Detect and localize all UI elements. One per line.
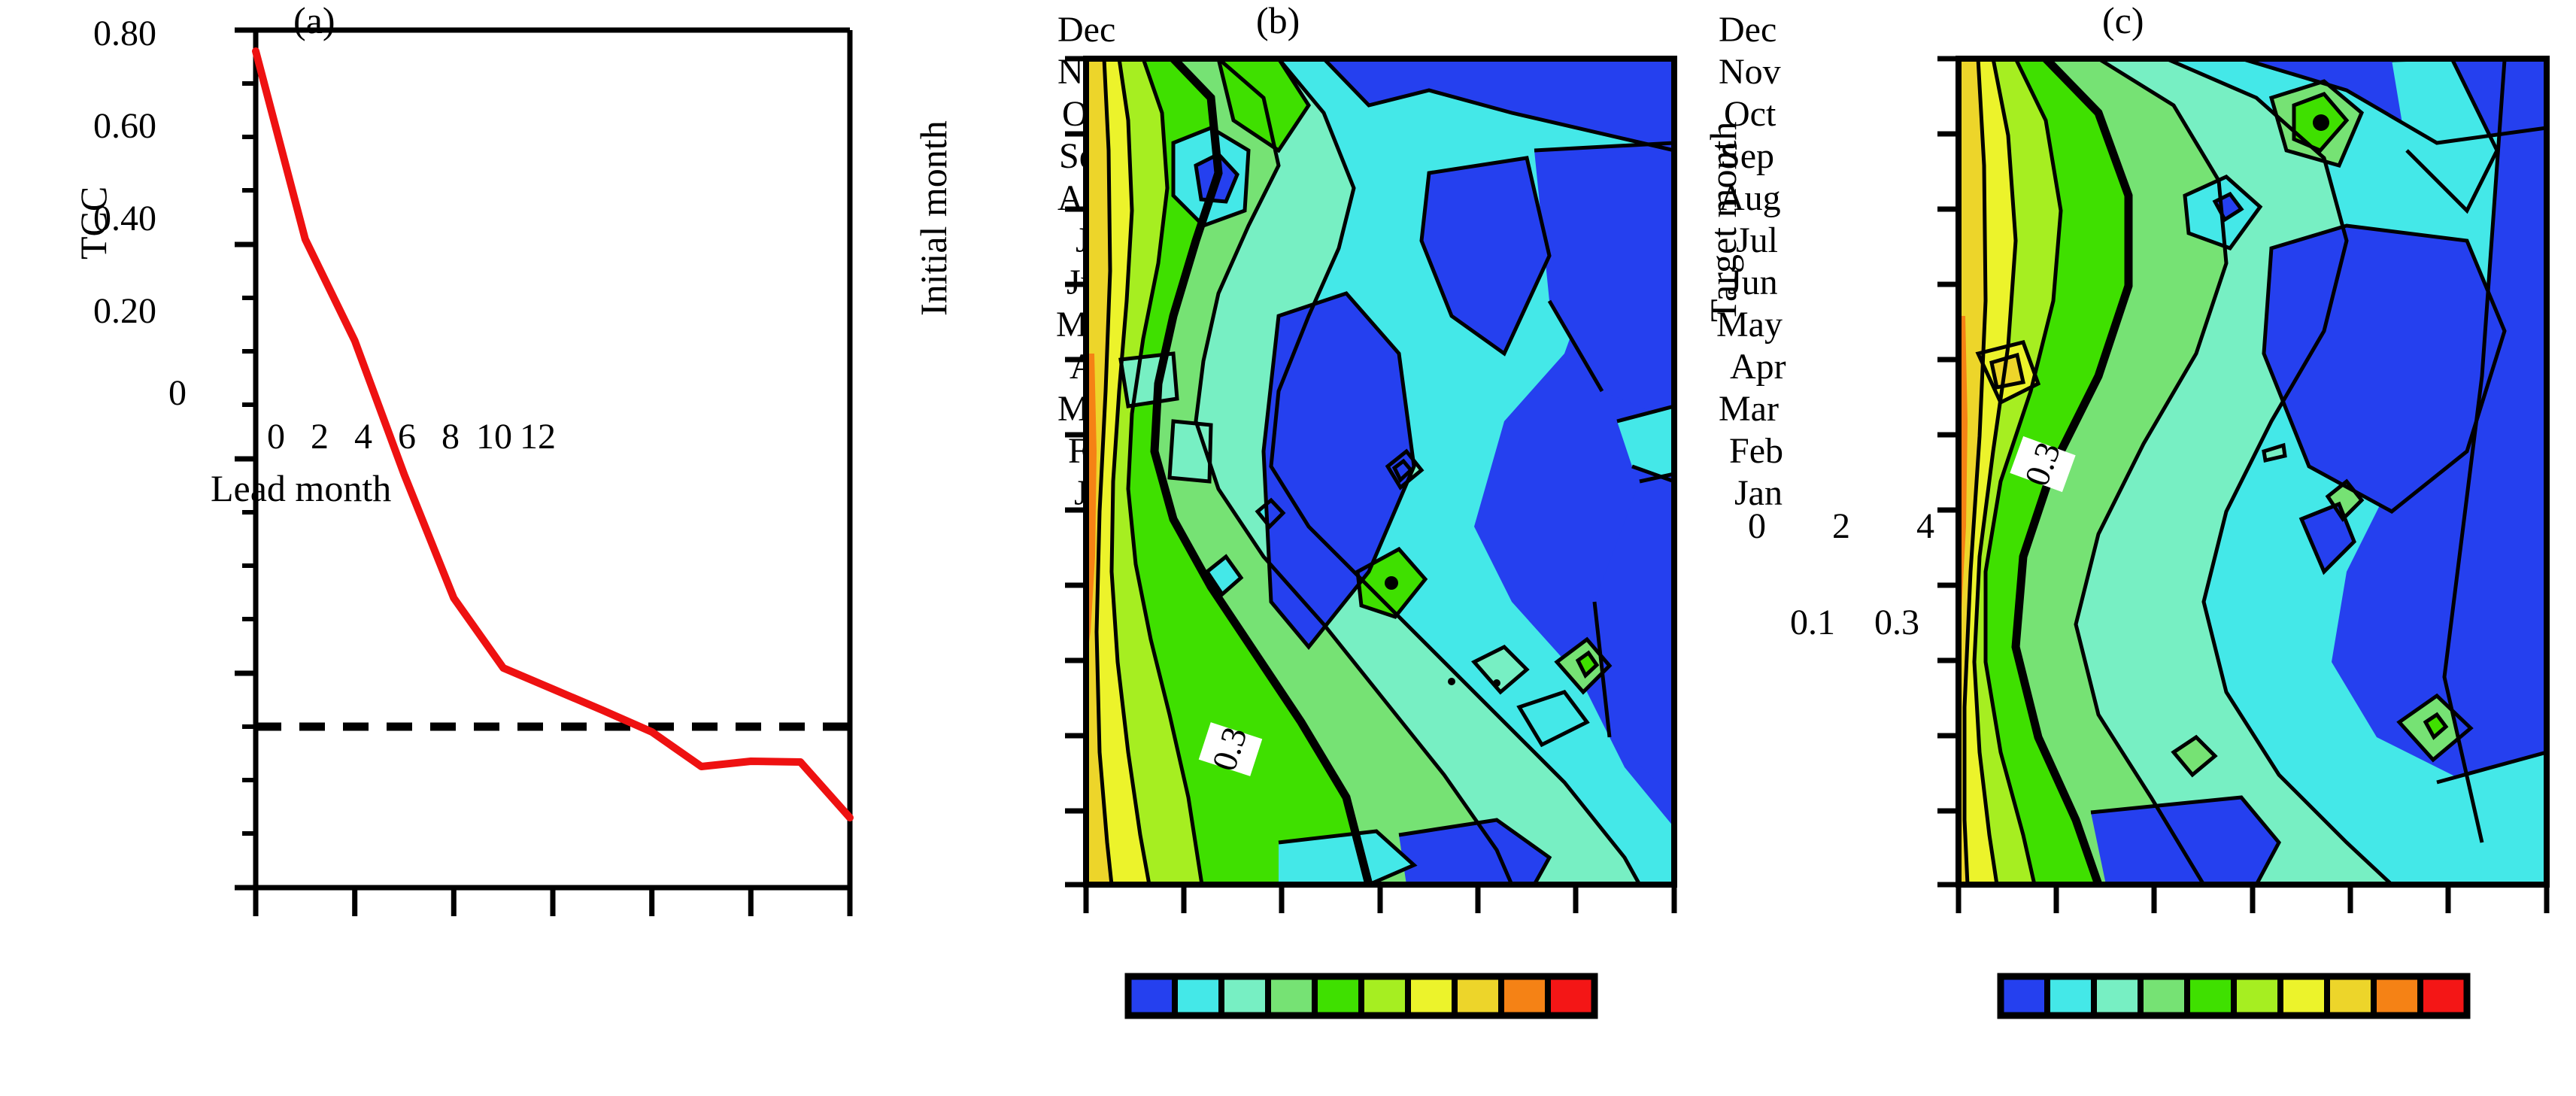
colorbar-panel-c: [2001, 976, 2467, 1016]
colorbar-cell: [1548, 976, 1594, 1016]
colorbar-cell: [2141, 976, 2187, 1016]
figure-root: (a) 0.80 0.60 0.40 0.20 0 TCC 0 2 4 6 8 …: [0, 0, 2576, 1096]
colorbar-cell: [2187, 976, 2234, 1016]
colorbar-cell: [2420, 976, 2467, 1016]
colorbar-cell: [1501, 976, 1548, 1016]
contour-layer: 0.3: [0, 0, 2576, 1096]
colorbar-cell: [1455, 976, 1501, 1016]
colorbar-cell: [2327, 976, 2374, 1016]
colorbar-cell: [1268, 976, 1315, 1016]
panel-b-contour-field: [1086, 59, 1674, 885]
colorbar-cell: [1221, 976, 1268, 1016]
colorbar-cell: [1361, 976, 1408, 1016]
colorbar-cell: [1408, 976, 1455, 1016]
colorbar-cell: [2374, 976, 2420, 1016]
colorbar-cell: [1128, 976, 1175, 1016]
colorbar-cell: [1315, 976, 1361, 1016]
colorbar-cell: [2047, 976, 2094, 1016]
colorbar-cell: [2234, 976, 2280, 1016]
colorbar-cell: [2001, 976, 2047, 1016]
colorbar-cell: [2094, 976, 2141, 1016]
colorbar-cell: [2280, 976, 2327, 1016]
colorbar-cell: [1175, 976, 1221, 1016]
colorbar-panel-b: [1128, 976, 1594, 1016]
